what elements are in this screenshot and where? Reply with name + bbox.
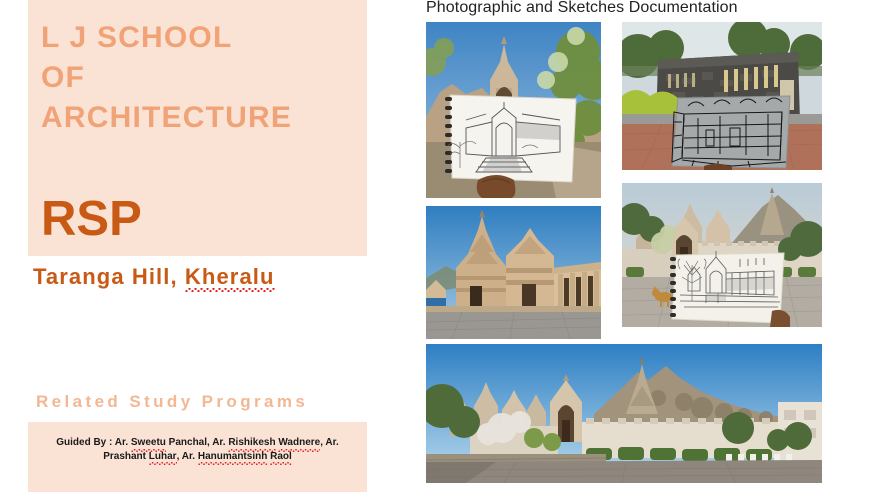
guided-by-box: Guided By : Ar. Sweetu Panchal, Ar. Rish… [28, 422, 367, 492]
photo-stone-bldg [622, 22, 822, 170]
documentation-heading: Photographic and Sketches Documentation [426, 0, 738, 17]
guided-by-text: Guided By : Ar. Sweetu Panchal, Ar. Rish… [28, 437, 367, 464]
photo-sketch-gate [426, 22, 601, 198]
school-title: L J SCHOOL OF ARCHITECTURE [41, 18, 361, 138]
spellcheck-word-wadnere: Wadnere [278, 437, 320, 451]
spellcheck-word-rishikesh: Rishikesh [228, 437, 275, 451]
location-line: Taranga Hill, Kheralu [33, 264, 275, 291]
location-prefix: Taranga Hill, [33, 264, 185, 289]
section-label: Related Study Programs [36, 392, 308, 412]
spellcheck-word-raol: Raol [270, 451, 292, 465]
documentation-panel: Photographic and Sketches Documentation [420, 0, 879, 492]
photo-panorama [426, 344, 822, 483]
title-panel: L J SCHOOL OF ARCHITECTURE RSP Taranga H… [0, 0, 380, 492]
photo-sketch-complex [622, 183, 822, 327]
spellcheck-word-hanumantsinh: Hanumantsinh [198, 451, 267, 465]
location-misspelled-word: Kheralu [185, 264, 275, 291]
photo-jain-temple [426, 206, 601, 339]
title-card: L J SCHOOL OF ARCHITECTURE RSP [28, 0, 367, 256]
spellcheck-word-sweetu: Sweetu [131, 437, 166, 451]
spellcheck-word-luhar: Luhar [149, 451, 177, 465]
program-code: RSP [41, 193, 142, 245]
